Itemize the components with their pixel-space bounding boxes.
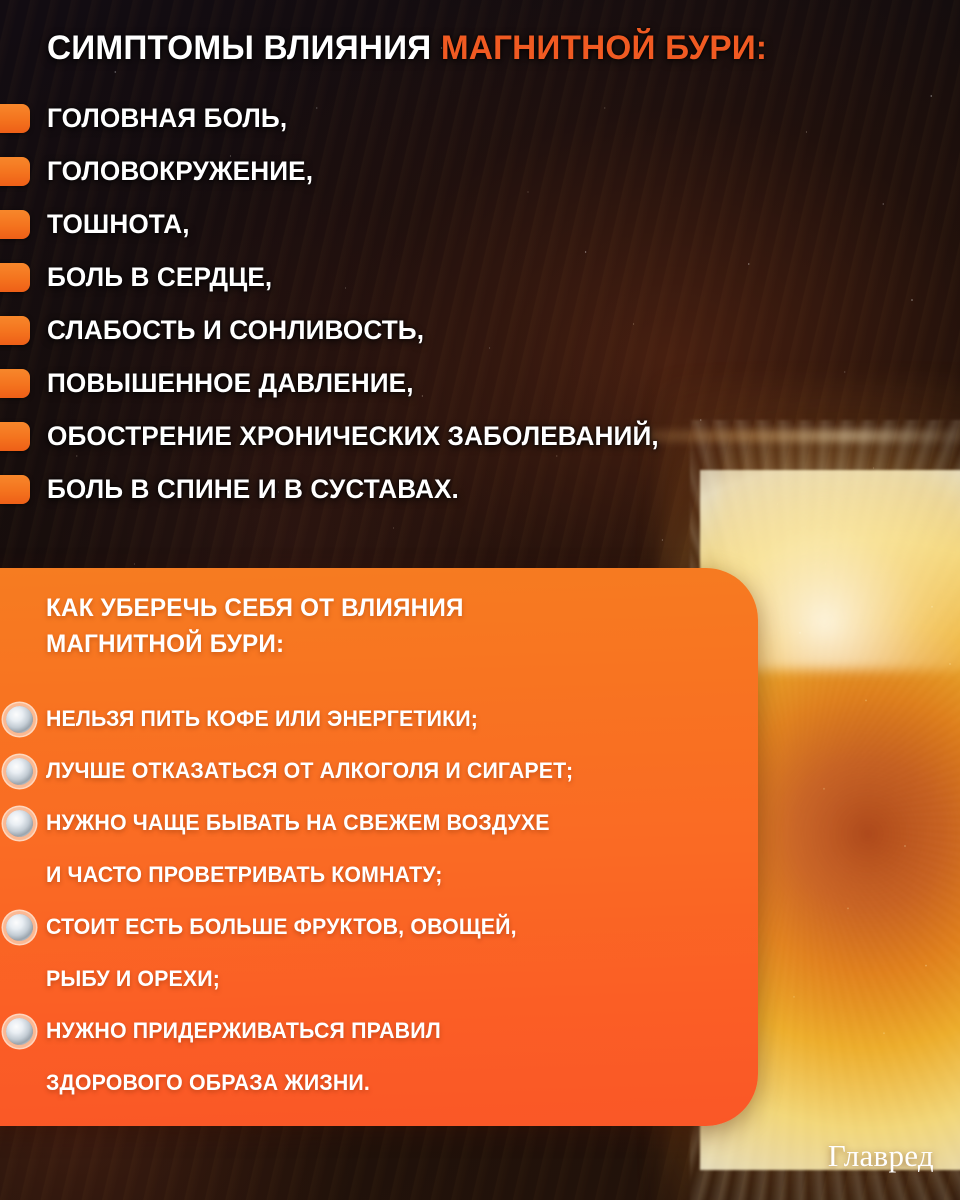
tip-item: НУЖНО ПРИДЕРЖИВАТЬСЯ ПРАВИЛЗДОРОВОГО ОБР… — [0, 1012, 758, 1116]
symptom-item: ТОШНОТА, — [0, 204, 940, 257]
brand-watermark: Главред — [828, 1138, 934, 1174]
page-title-main: СИМПТОМЫ ВЛИЯНИЯ — [47, 29, 431, 67]
tip-line: ЛУЧШЕ ОТКАЗАТЬСЯ ОТ АЛКОГОЛЯ И СИГАРЕТ; — [0, 752, 758, 804]
circle-ring-bullet-icon — [6, 758, 33, 785]
symptom-label: ГОЛОВОКРУЖЕНИЕ, — [47, 151, 313, 191]
symptom-item: БОЛЬ В СПИНЕ И В СУСТАВАХ. — [0, 469, 940, 522]
tips-list: НЕЛЬЗЯ ПИТЬ КОФЕ ИЛИ ЭНЕРГЕТИКИ;ЛУЧШЕ ОТ… — [0, 700, 758, 1116]
tip-line: НЕЛЬЗЯ ПИТЬ КОФЕ ИЛИ ЭНЕРГЕТИКИ; — [0, 700, 758, 752]
tip-label: НУЖНО ЧАЩЕ БЫВАТЬ НА СВЕЖЕМ ВОЗДУХЕ — [46, 804, 550, 841]
tip-line: ЗДОРОВОГО ОБРАЗА ЖИЗНИ. — [0, 1064, 758, 1116]
tip-item: СТОИТ ЕСТЬ БОЛЬШЕ ФРУКТОВ, ОВОЩЕЙ,РЫБУ И… — [0, 908, 758, 1012]
symptom-label: БОЛЬ В СПИНЕ И В СУСТАВАХ. — [47, 469, 459, 509]
symptom-item: БОЛЬ В СЕРДЦЕ, — [0, 257, 940, 310]
tip-line: НУЖНО ЧАЩЕ БЫВАТЬ НА СВЕЖЕМ ВОЗДУХЕ — [0, 804, 758, 856]
page-title: СИМПТОМЫ ВЛИЯНИЯ МАГНИТНОЙ БУРИ: — [47, 26, 767, 70]
symptoms-list: ГОЛОВНАЯ БОЛЬ,ГОЛОВОКРУЖЕНИЕ,ТОШНОТА,БОЛ… — [0, 98, 940, 522]
symptom-item: ГОЛОВОКРУЖЕНИЕ, — [0, 151, 940, 204]
tip-line: СТОИТ ЕСТЬ БОЛЬШЕ ФРУКТОВ, ОВОЩЕЙ, — [0, 908, 758, 960]
orange-tab-bullet-icon — [0, 210, 30, 239]
symptom-label: СЛАБОСТЬ И СОНЛИВОСТЬ, — [47, 310, 424, 350]
symptom-label: ГОЛОВНАЯ БОЛЬ, — [47, 98, 287, 138]
symptom-label: ОБОСТРЕНИЕ ХРОНИЧЕСКИХ ЗАБОЛЕВАНИЙ, — [47, 416, 659, 456]
tip-item: ЛУЧШЕ ОТКАЗАТЬСЯ ОТ АЛКОГОЛЯ И СИГАРЕТ; — [0, 752, 758, 804]
tip-line: РЫБУ И ОРЕХИ; — [0, 960, 758, 1012]
tip-item: НУЖНО ЧАЩЕ БЫВАТЬ НА СВЕЖЕМ ВОЗДУХЕИ ЧАС… — [0, 804, 758, 908]
symptom-label: ПОВЫШЕННОЕ ДАВЛЕНИЕ, — [47, 363, 414, 403]
tip-item: НЕЛЬЗЯ ПИТЬ КОФЕ ИЛИ ЭНЕРГЕТИКИ; — [0, 700, 758, 752]
orange-tab-bullet-icon — [0, 422, 30, 451]
tip-label: ЛУЧШЕ ОТКАЗАТЬСЯ ОТ АЛКОГОЛЯ И СИГАРЕТ; — [46, 752, 573, 789]
infographic-poster: СИМПТОМЫ ВЛИЯНИЯ МАГНИТНОЙ БУРИ: ГОЛОВНА… — [0, 0, 960, 1200]
symptom-label: БОЛЬ В СЕРДЦЕ, — [47, 257, 272, 297]
page-title-accent: МАГНИТНОЙ БУРИ: — [441, 29, 767, 67]
tip-label: И ЧАСТО ПРОВЕТРИВАТЬ КОМНАТУ; — [46, 856, 442, 893]
tip-label: НЕЛЬЗЯ ПИТЬ КОФЕ ИЛИ ЭНЕРГЕТИКИ; — [46, 700, 478, 737]
symptom-item: ОБОСТРЕНИЕ ХРОНИЧЕСКИХ ЗАБОЛЕВАНИЙ, — [0, 416, 940, 469]
tip-label: СТОИТ ЕСТЬ БОЛЬШЕ ФРУКТОВ, ОВОЩЕЙ, — [46, 908, 517, 945]
symptom-label: ТОШНОТА, — [47, 204, 190, 244]
symptom-item: ПОВЫШЕННОЕ ДАВЛЕНИЕ, — [0, 363, 940, 416]
tip-label: НУЖНО ПРИДЕРЖИВАТЬСЯ ПРАВИЛ — [46, 1012, 441, 1049]
circle-ring-bullet-icon — [6, 914, 33, 941]
orange-tab-bullet-icon — [0, 316, 30, 345]
tip-line: И ЧАСТО ПРОВЕТРИВАТЬ КОМНАТУ; — [0, 856, 758, 908]
tip-label: РЫБУ И ОРЕХИ; — [46, 960, 220, 997]
orange-tab-bullet-icon — [0, 104, 30, 133]
orange-tab-bullet-icon — [0, 263, 30, 292]
panel-heading-line-1: КАК УБЕРЕЧЬ СЕБЯ ОТ ВЛИЯНИЯ — [46, 590, 647, 626]
circle-ring-bullet-icon — [6, 706, 33, 733]
symptom-item: СЛАБОСТЬ И СОНЛИВОСТЬ, — [0, 310, 940, 363]
tip-label: ЗДОРОВОГО ОБРАЗА ЖИЗНИ. — [46, 1064, 370, 1101]
orange-tab-bullet-icon — [0, 475, 30, 504]
symptom-item: ГОЛОВНАЯ БОЛЬ, — [0, 98, 940, 151]
orange-tab-bullet-icon — [0, 157, 30, 186]
circle-ring-bullet-icon — [6, 810, 33, 837]
tip-line: НУЖНО ПРИДЕРЖИВАТЬСЯ ПРАВИЛ — [0, 1012, 758, 1064]
circle-ring-bullet-icon — [6, 1018, 33, 1045]
prevention-panel: КАК УБЕРЕЧЬ СЕБЯ ОТ ВЛИЯНИЯ МАГНИТНОЙ БУ… — [0, 568, 758, 1126]
orange-tab-bullet-icon — [0, 369, 30, 398]
panel-heading: КАК УБЕРЕЧЬ СЕБЯ ОТ ВЛИЯНИЯ МАГНИТНОЙ БУ… — [46, 590, 647, 662]
panel-heading-line-2: МАГНИТНОЙ БУРИ: — [46, 626, 647, 662]
